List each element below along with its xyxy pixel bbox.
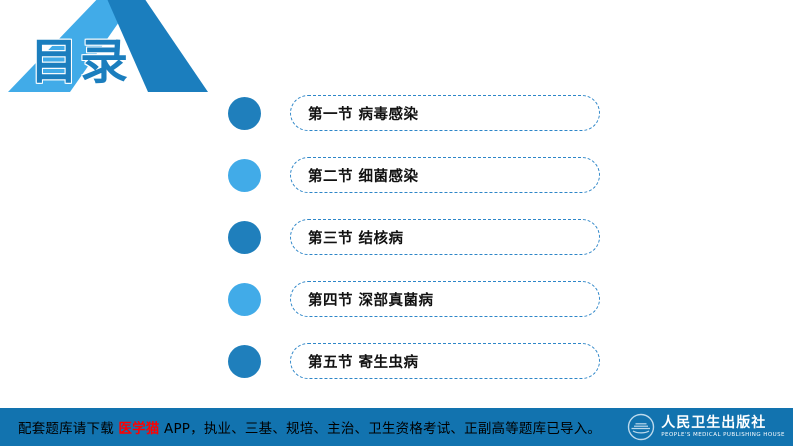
- toc-item-label: 第二节 细菌感染: [291, 165, 419, 186]
- toc-item-label: 第四节 深部真菌病: [291, 289, 434, 310]
- publisher-name-en: PEOPLE'S MEDICAL PUBLISHING HOUSE: [661, 433, 785, 439]
- toc-item-4[interactable]: 第四节 深部真菌病: [228, 279, 600, 319]
- bottom-banner: 配套题库请下载 医学猫 APP，执业、三基、规培、主治、卫生资格考试、正副高等题…: [0, 408, 793, 446]
- toc-list: 第一节 病毒感染 第二节 细菌感染 第三节 结核病 第四节 深部真菌病: [228, 93, 600, 381]
- page-title: 目录: [30, 38, 130, 86]
- banner-brand-name: 医学猫: [118, 421, 159, 437]
- toc-item-1[interactable]: 第一节 病毒感染: [228, 93, 600, 133]
- toc-item-label: 第一节 病毒感染: [291, 103, 419, 124]
- toc-item-box[interactable]: 第一节 病毒感染: [290, 95, 600, 131]
- bullet-circle-icon: [228, 97, 261, 130]
- banner-promo-text: 配套题库请下载 医学猫 APP，执业、三基、规培、主治、卫生资格考试、正副高等题…: [18, 417, 601, 437]
- publisher-names: 人民卫生出版社 PEOPLE'S MEDICAL PUBLISHING HOUS…: [661, 416, 785, 439]
- publisher-emblem-icon: [627, 413, 655, 441]
- banner-text-prefix: 配套题库请下载: [18, 421, 118, 437]
- bullet-circle-icon: [228, 283, 261, 316]
- toc-item-box[interactable]: 第四节 深部真菌病: [290, 281, 600, 317]
- bullet-circle-icon: [228, 159, 261, 192]
- toc-item-label: 第五节 寄生虫病: [291, 351, 419, 372]
- bullet-circle-icon: [228, 221, 261, 254]
- toc-item-box[interactable]: 第二节 细菌感染: [290, 157, 600, 193]
- slide-canvas: 目录 第一节 病毒感染 第二节 细菌感染 第三节 结核病 第四节 深部真菌病: [0, 0, 793, 446]
- bullet-circle-icon: [228, 345, 261, 378]
- toc-item-3[interactable]: 第三节 结核病: [228, 217, 600, 257]
- publisher-name-cn: 人民卫生出版社: [661, 416, 785, 430]
- toc-item-box[interactable]: 第五节 寄生虫病: [290, 343, 600, 379]
- toc-item-5[interactable]: 第五节 寄生虫病: [228, 341, 600, 381]
- toc-item-box[interactable]: 第三节 结核病: [290, 219, 600, 255]
- banner-text-suffix: APP，执业、三基、规培、主治、卫生资格考试、正副高等题库已导入。: [160, 421, 602, 437]
- toc-item-label: 第三节 结核病: [291, 227, 404, 248]
- toc-item-2[interactable]: 第二节 细菌感染: [228, 155, 600, 195]
- publisher-logo: 人民卫生出版社 PEOPLE'S MEDICAL PUBLISHING HOUS…: [627, 413, 785, 441]
